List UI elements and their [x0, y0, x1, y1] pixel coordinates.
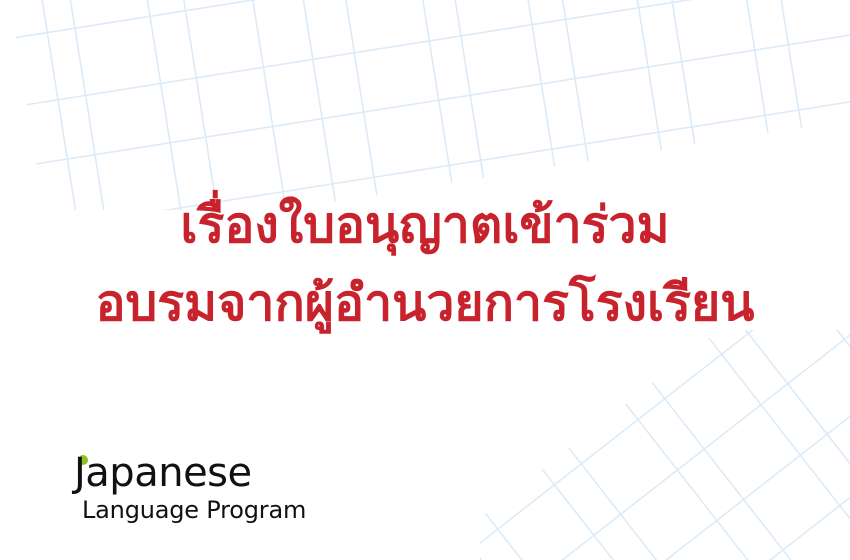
headline-line-2: อบรมจากผู้อำนวยการโรงเรียน [0, 264, 850, 342]
logo-wordmark-row: Japanese [74, 450, 374, 496]
headline-block: เรื่องใบอนุญาตเข้าร่วม อบรมจากผู้อำนวยกา… [0, 186, 850, 342]
logo-wordmark: Japanese [74, 450, 252, 496]
logo-subtitle: Language Program [82, 496, 374, 524]
decorative-grid-bottom [480, 330, 850, 560]
decorative-grid-top [0, 0, 850, 210]
slide-canvas: เรื่องใบอนุญาตเข้าร่วม อบรมจากผู้อำนวยกา… [0, 0, 850, 560]
headline-line-1: เรื่องใบอนุญาตเข้าร่วม [0, 186, 850, 264]
japanese-language-program-logo: Japanese Language Program [74, 450, 374, 524]
